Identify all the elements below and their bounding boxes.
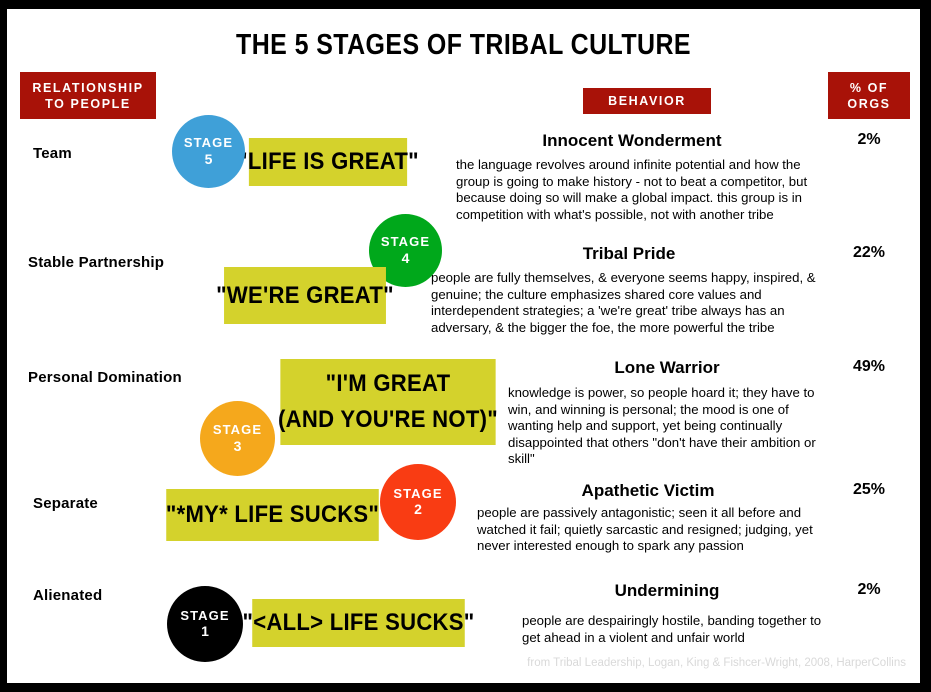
header-percent-line1: % OF — [847, 80, 890, 96]
quote-box-stage-2: "*MY* LIFE SUCKS" — [166, 489, 379, 541]
quote-box-stage-5: "LIFE IS GREAT" — [249, 138, 407, 186]
header-relationship-line1: RELATIONSHIP — [32, 80, 143, 96]
stage-circle-3: STAGE 3 — [200, 401, 275, 476]
stage-circle-word-1: STAGE — [180, 609, 229, 623]
relationship-label-separate: Separate — [33, 495, 98, 512]
behavior-body-innocent-wonderment: the language revolves around infinite po… — [456, 157, 829, 223]
header-relationship-to-people: RELATIONSHIP TO PEOPLE — [20, 72, 156, 119]
stage-circle-word-4: STAGE — [381, 235, 430, 249]
stage-circle-1: STAGE 1 — [167, 586, 243, 662]
quote-box-stage-1: "<ALL> LIFE SUCKS" — [252, 599, 465, 647]
relationship-label-personal-domination: Personal Domination — [28, 369, 182, 386]
relationship-label-alienated: Alienated — [33, 587, 102, 604]
stage-circle-number-1: 1 — [201, 624, 209, 639]
stage-circle-number-2: 2 — [414, 502, 422, 517]
infographic-canvas: THE 5 STAGES OF TRIBAL CULTURE RELATIONS… — [0, 0, 931, 692]
percent-value-stage-4: 22% — [828, 244, 910, 262]
behavior-body-undermining: people are despairingly hostile, banding… — [522, 613, 827, 646]
relationship-label-stable-partnership: Stable Partnership — [28, 254, 164, 271]
stage-circle-5: STAGE 5 — [172, 115, 245, 188]
relationship-label-team: Team — [33, 145, 72, 162]
behavior-body-apathetic-victim: people are passively antagonistic; seen … — [477, 505, 825, 555]
percent-value-stage-1: 2% — [828, 581, 910, 599]
header-percent-line2: ORGS — [847, 96, 890, 112]
behavior-body-lone-warrior: knowledge is power, so people hoard it; … — [508, 385, 820, 468]
stage-circle-word-2: STAGE — [393, 487, 442, 501]
behavior-body-tribal-pride: people are fully themselves, & everyone … — [431, 270, 825, 336]
behavior-title-apathetic-victim: Apathetic Victim — [470, 481, 826, 501]
stage-circle-number-4: 4 — [402, 251, 410, 266]
quote-box-stage-4: "WE'RE GREAT" — [224, 267, 386, 324]
behavior-title-innocent-wonderment: Innocent Wonderment — [437, 131, 827, 151]
behavior-title-lone-warrior: Lone Warrior — [507, 358, 827, 378]
stage-circle-2: STAGE 2 — [380, 464, 456, 540]
header-percent-of-orgs: % OF ORGS — [828, 72, 910, 119]
percent-value-stage-2: 25% — [828, 481, 910, 499]
stage-circle-word-5: STAGE — [184, 136, 233, 150]
header-relationship-line2: TO PEOPLE — [32, 96, 143, 112]
page-title: THE 5 STAGES OF TRIBAL CULTURE — [71, 29, 856, 62]
percent-value-stage-5: 2% — [828, 131, 910, 149]
stage-circle-number-3: 3 — [234, 439, 242, 454]
behavior-title-undermining: Undermining — [507, 581, 827, 601]
stage-circle-number-5: 5 — [205, 152, 213, 167]
quote-box-stage-3: "I'M GREAT (AND YOU'RE NOT)" — [280, 359, 495, 445]
behavior-title-tribal-pride: Tribal Pride — [429, 244, 829, 264]
header-behavior: BEHAVIOR — [583, 88, 711, 114]
source-citation: from Tribal Leadership, Logan, King & Fi… — [7, 657, 906, 669]
percent-value-stage-3: 49% — [828, 358, 910, 376]
stage-circle-word-3: STAGE — [213, 423, 262, 437]
